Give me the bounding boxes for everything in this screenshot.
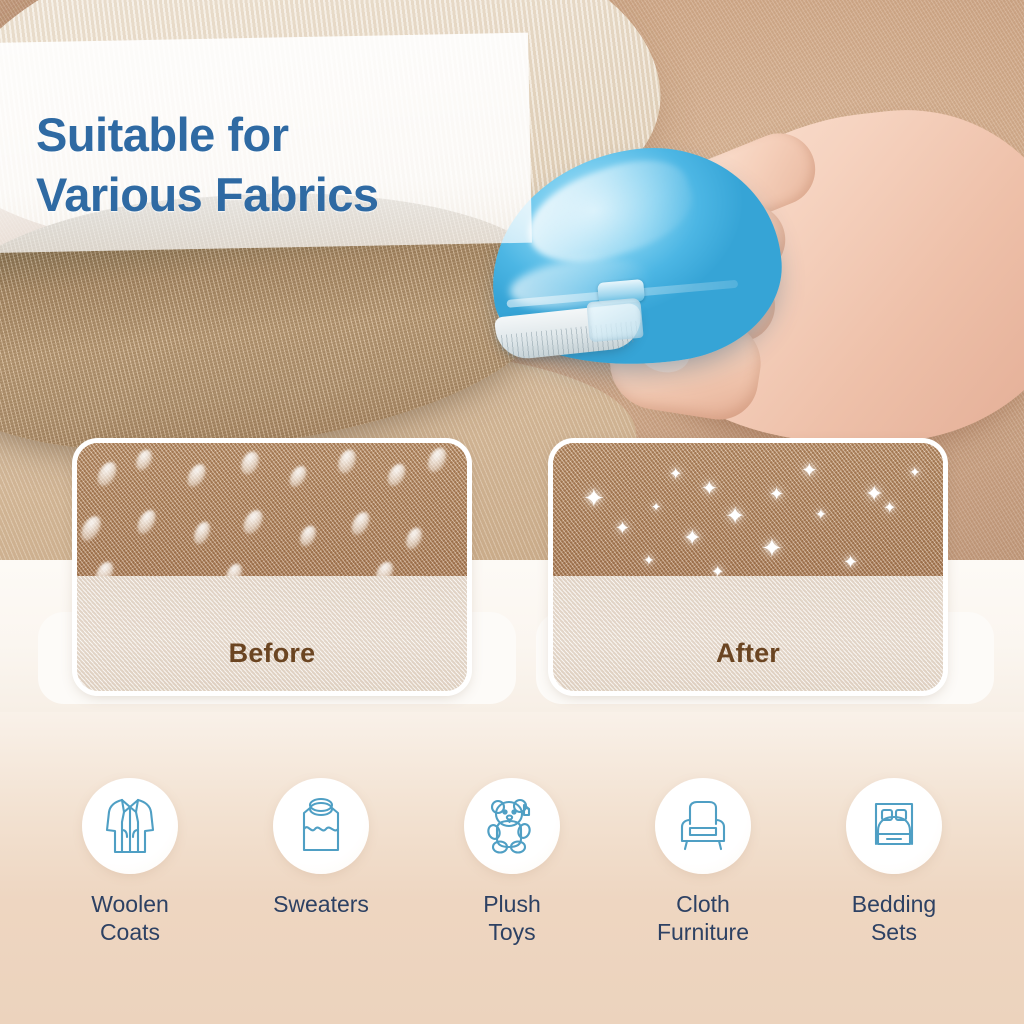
fabric-type-plush-toys[interactable]: Plush Toys bbox=[424, 778, 600, 946]
fabric-type-label: Plush Toys bbox=[483, 890, 541, 946]
lint-pill bbox=[134, 507, 159, 537]
fabric-types-section: Woolen Coats Sweaters bbox=[0, 700, 1024, 1024]
shaver-lint-window bbox=[586, 298, 643, 343]
lint-pill bbox=[94, 459, 120, 489]
sparkle-icon: ✦ bbox=[865, 483, 883, 505]
sparkle-icon: ✦ bbox=[843, 553, 858, 571]
before-card: Before bbox=[72, 438, 472, 696]
lint-pill bbox=[297, 523, 319, 549]
sparkle-icon: ✦ bbox=[725, 505, 745, 529]
lint-pill bbox=[286, 463, 310, 490]
sparkle-icon: ✦ bbox=[669, 467, 682, 483]
bed-icon bbox=[846, 778, 942, 874]
fabric-type-cloth-furniture[interactable]: Cloth Furniture bbox=[615, 778, 791, 946]
sparkle-icon: ✦ bbox=[815, 507, 827, 521]
fabric-types-list: Woolen Coats Sweaters bbox=[42, 778, 982, 946]
fabric-type-sweaters[interactable]: Sweaters bbox=[233, 778, 409, 946]
lint-pill bbox=[238, 449, 262, 477]
lint-pill bbox=[184, 461, 209, 490]
fabric-type-bedding-sets[interactable]: Bedding Sets bbox=[806, 778, 982, 946]
lint-pill bbox=[133, 447, 155, 473]
lint-pill bbox=[240, 507, 267, 538]
fabric-type-label: Woolen Coats bbox=[91, 890, 169, 946]
sparkle-icon: ✦ bbox=[883, 501, 896, 517]
lint-pill bbox=[348, 509, 373, 538]
sparkle-icon: ✦ bbox=[583, 485, 605, 511]
sparkle-icon: ✦ bbox=[615, 519, 630, 537]
after-fabric-photo: ✦ ✦ ✦ ✦ ✦ ✦ ✦ ✦ ✦ ✦ ✦ ✦ ✦ ✦ ✦ ✦ ✦ bbox=[553, 443, 943, 586]
lint-pill bbox=[77, 513, 104, 544]
before-label: Before bbox=[77, 638, 467, 669]
after-label-background bbox=[553, 576, 943, 691]
fabric-type-woolen-coats[interactable]: Woolen Coats bbox=[42, 778, 218, 946]
coat-icon bbox=[82, 778, 178, 874]
sparkle-icon: ✦ bbox=[769, 485, 784, 503]
product-feature-image: Suitable for Various Fabrics bbox=[0, 0, 1024, 1024]
sweater-icon bbox=[273, 778, 369, 874]
teddy-bear-icon bbox=[464, 778, 560, 874]
sparkle-icon: ✦ bbox=[701, 479, 718, 499]
page-title-line-1: Suitable for bbox=[36, 105, 506, 164]
page-title-line-2: Various Fabrics bbox=[36, 165, 506, 224]
after-label: After bbox=[553, 638, 943, 669]
page-title: Suitable for Various Fabrics bbox=[36, 105, 506, 223]
lint-pill bbox=[424, 445, 450, 475]
fabric-type-label: Bedding Sets bbox=[852, 890, 936, 946]
after-card: ✦ ✦ ✦ ✦ ✦ ✦ ✦ ✦ ✦ ✦ ✦ ✦ ✦ ✦ ✦ ✦ ✦ After bbox=[548, 438, 948, 696]
lint-pill bbox=[384, 461, 409, 489]
armchair-icon bbox=[655, 778, 751, 874]
sparkle-icon: ✦ bbox=[761, 535, 783, 561]
lint-pill bbox=[403, 525, 425, 552]
sparkle-icon: ✦ bbox=[909, 465, 921, 479]
hand-with-shaver bbox=[470, 140, 1024, 440]
sparkle-icon: ✦ bbox=[801, 461, 818, 481]
sparkle-icon: ✦ bbox=[683, 527, 701, 549]
sparkle-icon: ✦ bbox=[651, 501, 661, 513]
lint-pill bbox=[191, 519, 214, 547]
before-label-background bbox=[77, 576, 467, 691]
lint-pill bbox=[335, 447, 359, 476]
fabric-type-label: Cloth Furniture bbox=[657, 890, 749, 946]
fabric-type-label: Sweaters bbox=[273, 890, 369, 918]
sparkle-icon: ✦ bbox=[643, 553, 655, 567]
before-fabric-photo bbox=[77, 443, 467, 586]
